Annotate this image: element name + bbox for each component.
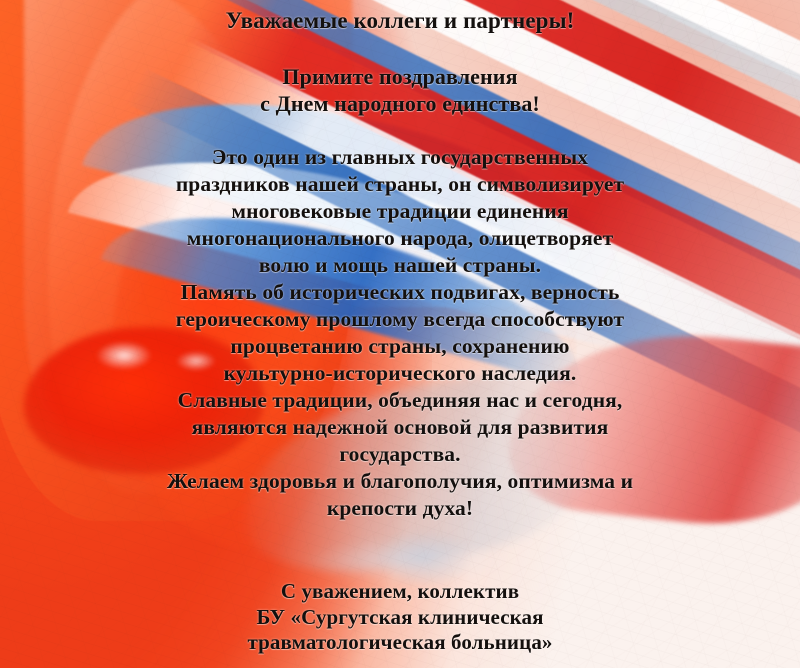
- card-content: Уважаемые коллеги и партнеры! Примите по…: [0, 0, 800, 668]
- message-line: процветанию страны, сохранению: [0, 333, 800, 360]
- signature-line: травматологическая больница»: [0, 630, 800, 656]
- message-line: являются надежной основой для развития: [0, 414, 800, 441]
- signature-line: С уважением, коллектив: [0, 579, 800, 605]
- greeting-card: Уважаемые коллеги и партнеры! Примите по…: [0, 0, 800, 668]
- message-line: многонационального народа, олицетворяет: [0, 225, 800, 252]
- message-line: Память об исторических подвигах, верност…: [0, 279, 800, 306]
- message-line: крепости духа!: [0, 495, 800, 522]
- message-line: волю и мощь нашей страны.: [0, 252, 800, 279]
- greeting-block: Примите поздравления с Днем народного ед…: [0, 64, 800, 118]
- message-line: государства.: [0, 441, 800, 468]
- message-line: героическому прошлому всегда способствую…: [0, 306, 800, 333]
- greeting-line: Примите поздравления: [0, 64, 800, 91]
- message-line: Славные традиции, объединяя нас и сегодн…: [0, 387, 800, 414]
- salutation-block: Уважаемые коллеги и партнеры!: [0, 8, 800, 34]
- salutation-line: Уважаемые коллеги и партнеры!: [0, 8, 800, 34]
- greeting-line: с Днем народного единства!: [0, 91, 800, 118]
- message-line: Желаем здоровья и благополучия, оптимизм…: [0, 468, 800, 495]
- message-line: Это один из главных государственных: [0, 144, 800, 171]
- signature-line: БУ «Сургутская клиническая: [0, 605, 800, 631]
- message-body-block: Это один из главных государственных праз…: [0, 144, 800, 522]
- message-line: многовековые традиции единения: [0, 198, 800, 225]
- signature-block: С уважением, коллектив БУ «Сургутская кл…: [0, 579, 800, 656]
- message-line: культурно-исторического наследия.: [0, 360, 800, 387]
- message-line: праздников нашей страны, он символизируе…: [0, 171, 800, 198]
